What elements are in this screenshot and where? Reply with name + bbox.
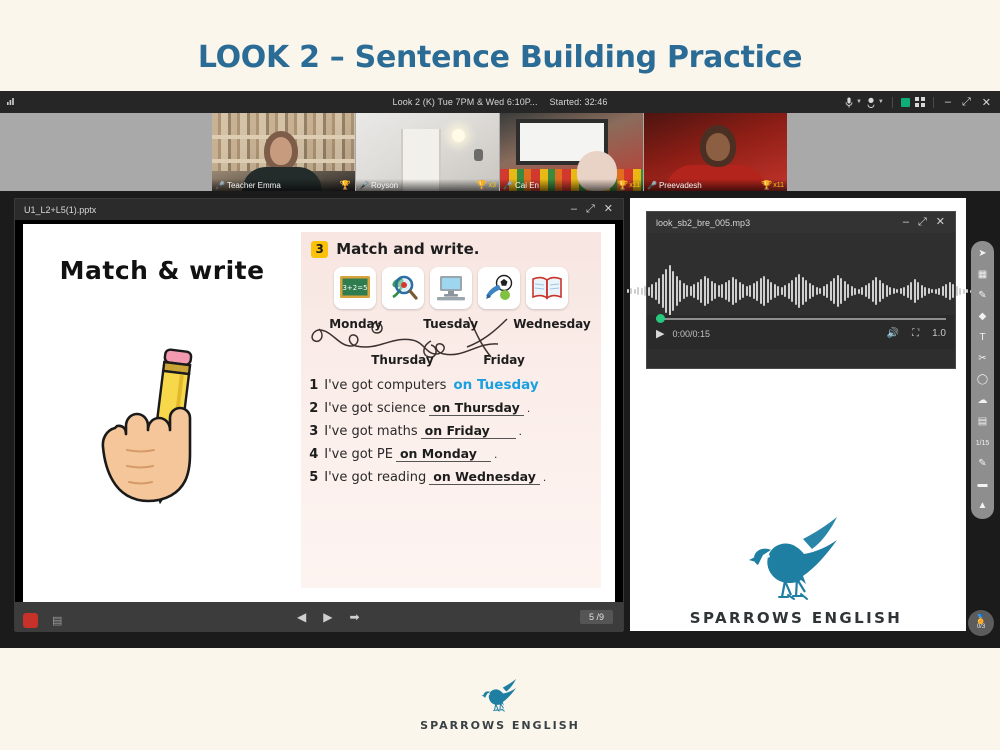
briefcase-icon[interactable]: ▤: [978, 416, 987, 428]
sentence-index: 5: [309, 470, 324, 485]
slide-nav-controls: ◀ ▶ ➡: [297, 611, 360, 623]
sentence-row-1[interactable]: 1 I've got computers on Tuesday: [309, 377, 601, 400]
sentence-answer: on Friday: [421, 423, 516, 439]
slide-canvas[interactable]: Match & write: [23, 224, 615, 602]
exercise-number-badge: 3: [311, 241, 328, 258]
arrow-right-icon[interactable]: ➡: [349, 611, 359, 623]
brand-name-slide: SPARROWS ENGLISH: [690, 609, 902, 627]
empty-tile: [788, 113, 1000, 191]
play-icon[interactable]: ▶: [656, 329, 664, 340]
text-tool-icon[interactable]: T: [979, 332, 985, 344]
participant-label: 🎤 Royson 🏆 x3: [356, 179, 499, 191]
audio-waveform: [627, 261, 976, 321]
close-button[interactable]: ✕: [979, 96, 994, 109]
worksheet-instruction: Match and write.: [336, 240, 479, 258]
powerpoint-file-name: U1_L2+L5(1).pptx: [24, 205, 571, 215]
sentence-row-4[interactable]: 4 I've got PE on Monday .: [309, 446, 601, 469]
sentence-answer: on Tuesday: [449, 377, 544, 393]
sentence-stem: I've got computers: [324, 378, 446, 393]
meeting-titlebar: Look 2 (K) Tue 7PM & Wed 6:10P...Started…: [0, 91, 1000, 113]
participant-reward: 🏆 x3: [476, 181, 496, 190]
reward-count: x11: [629, 182, 640, 189]
scissors-cut-icon[interactable]: ✂: [978, 353, 986, 365]
mic-on-icon: 🎤: [359, 181, 369, 190]
audio-right-controls: 🔊 ⛶ 1.0: [887, 329, 946, 339]
audio-waveform-stage[interactable]: ▶ 0:00/0:15 🔊 ⛶ 1.0: [647, 233, 955, 349]
toolbar-divider: [892, 97, 893, 108]
audio-controls-row: ▶ 0:00/0:15 🔊 ⛶ 1.0: [647, 321, 955, 347]
trophy-icon: 🏆: [617, 181, 628, 190]
minimize-button[interactable]: –: [571, 204, 577, 215]
close-button[interactable]: ✕: [936, 217, 945, 228]
ceiling-light: [452, 129, 465, 142]
day-label-wednesday: Wednesday: [513, 317, 591, 331]
footer-brand: SPARROWS ENGLISH: [0, 679, 1000, 732]
open-book-reading-icon[interactable]: [526, 267, 568, 309]
minimize-button[interactable]: –: [903, 217, 909, 228]
trophy-icon: 🏆: [761, 181, 772, 190]
audio-time-label: 0:00/0:15: [672, 329, 710, 339]
sentence-stem: I've got maths: [324, 424, 417, 439]
participant-label: 🎤 Cai En 🏆 x11: [500, 179, 643, 191]
sports-ball-pe-icon[interactable]: [478, 267, 520, 309]
sentence-period: .: [519, 424, 522, 438]
slide-navigation-bar: ▤ ◀ ▶ ➡ 5 /9: [15, 602, 623, 632]
thumbnail-view-icon[interactable]: ▤: [52, 614, 62, 627]
participant-name: Royson: [371, 181, 398, 190]
wall-fixture: [474, 149, 483, 161]
participant-name: Cai En: [515, 181, 539, 190]
day-labels-group: Monday Tuesday Wednesday Thursday Friday: [301, 315, 601, 375]
slide-heading: Match & write: [23, 256, 301, 285]
camera-icon[interactable]: [867, 97, 875, 108]
participant-tile-2[interactable]: 🎤 Royson 🏆 x3: [356, 113, 499, 191]
brand-logo-panel: SPARROWS ENGLISH: [646, 491, 946, 627]
slide-page-counter: 5 /9: [580, 610, 613, 624]
mic-muted-icon: 🎤: [647, 181, 657, 190]
play-icon[interactable]: ▶: [323, 611, 332, 623]
day-label-thursday: Thursday: [371, 353, 433, 367]
restore-button[interactable]: ⤢: [918, 217, 927, 228]
sentence-row-2[interactable]: 2 I've got science on Thursday .: [309, 400, 601, 423]
participant-label: 🎤 Preevadesh 🏆 x11: [644, 179, 787, 191]
eraser-icon[interactable]: ◆: [979, 311, 987, 323]
sentence-answer: on Monday: [396, 446, 491, 462]
reward-count: x3: [489, 182, 496, 189]
audio-seek-bar[interactable]: [656, 317, 946, 321]
audio-transport-bar: ▶ 0:00/0:15 🔊 ⛶ 1.0: [647, 315, 955, 349]
sentence-row-5[interactable]: 5 I've got reading on Wednesday .: [309, 469, 601, 492]
sparrow-bird-logo-footer: [478, 679, 522, 715]
screenshare-indicator[interactable]: [901, 98, 910, 107]
meeting-name: Look 2 (K) Tue 7PM & Wed 6:10P...: [393, 97, 538, 107]
powerpoint-window: U1_L2+L5(1).pptx – ⤢ ✕ Match & write: [14, 198, 624, 631]
picture-in-picture-icon[interactable]: ⛶: [912, 329, 919, 339]
seek-handle[interactable]: [656, 314, 665, 323]
sentence-period: .: [527, 401, 530, 415]
minimize-button[interactable]: –: [942, 96, 954, 108]
sentence-index: 4: [309, 447, 324, 462]
sentence-answer: on Wednesday: [429, 469, 540, 485]
participant-reward: 🏆 x11: [617, 181, 640, 190]
audio-window-controls: – ⤢ ✕: [903, 217, 950, 228]
video-conference-window: Look 2 (K) Tue 7PM & Wed 6:10P...Started…: [0, 91, 1000, 648]
reward-badge[interactable]: 🏅 0/3: [968, 610, 994, 636]
day-label-monday: Monday: [329, 317, 382, 331]
subject-icon-row: 3+2=5: [301, 267, 601, 309]
person-face: [270, 137, 292, 165]
volume-icon[interactable]: 🔊: [887, 329, 899, 339]
shape-circle-icon[interactable]: ◯: [977, 374, 988, 386]
sentence-row-3[interactable]: 3 I've got maths on Friday .: [309, 423, 601, 446]
participant-reward: 🏆: [340, 181, 352, 190]
day-label-friday: Friday: [483, 353, 525, 367]
sentence-stem: I've got reading: [324, 470, 426, 485]
audio-titlebar: look_sb2_bre_005.mp3 – ⤢ ✕: [647, 212, 955, 233]
sentence-period: .: [494, 447, 497, 461]
sentence-answer: on Thursday: [429, 400, 524, 416]
record-indicator-icon[interactable]: [23, 613, 38, 628]
sentence-index: 2: [309, 401, 324, 416]
trophy-icon: 🏆: [476, 181, 487, 190]
svg-text:3+2=5: 3+2=5: [343, 284, 368, 292]
apps-grid-icon[interactable]: ▦: [978, 269, 987, 281]
sentence-index: 3: [309, 424, 324, 439]
meeting-elapsed: Started: 32:46: [550, 97, 608, 107]
participant-video-strip: 🎤 Teacher Emma 🏆 🎤 Royson 🏆: [0, 113, 1000, 191]
slide-nav-left-tools: ▤: [23, 613, 62, 628]
restore-button[interactable]: ⤢: [959, 96, 974, 109]
sentence-index: 1: [309, 378, 324, 393]
screenshot-root: LOOK 2 – Sentence Building Practice Look…: [0, 0, 1000, 750]
sentence-stem: I've got PE: [324, 447, 393, 462]
magnifier-plant-science-icon[interactable]: [382, 267, 424, 309]
tools-rail: ➤ ▦ ✎ ◆ T ✂ ◯ ☁ ▤ 1/15 ✎ ▬ ▲: [971, 241, 994, 519]
cursor-pointer-icon[interactable]: ➤: [978, 248, 986, 260]
reward-counter: 0/3: [977, 624, 985, 632]
worksheet-header: 3 Match and write.: [301, 232, 601, 258]
mic-on-icon: 🎤: [503, 181, 513, 190]
close-button[interactable]: ✕: [604, 204, 613, 215]
page-counter-label: 1/15: [976, 437, 990, 449]
audio-player-window: look_sb2_bre_005.mp3 – ⤢ ✕: [646, 211, 956, 369]
sentence-stem: I've got science: [324, 401, 426, 416]
microphone-icon[interactable]: [845, 97, 853, 108]
computer-icon[interactable]: [430, 267, 472, 309]
slide-left-panel: Match & write: [23, 224, 301, 602]
day-label-tuesday: Tuesday: [423, 317, 478, 331]
chat-bubble-icon[interactable]: ▬: [978, 479, 988, 491]
participant-tile-4[interactable]: 🎤 Preevadesh 🏆 x11: [644, 113, 787, 191]
participant-name: Preevadesh: [659, 181, 702, 190]
worksheet-page[interactable]: 3 Match and write. 3+2=5: [301, 232, 601, 588]
participant-tile-1[interactable]: 🎤 Teacher Emma 🏆: [212, 113, 355, 191]
blackboard-maths-icon[interactable]: 3+2=5: [334, 267, 376, 309]
hand-holding-pencil-illustration: [97, 332, 227, 522]
mic-on-icon: 🎤: [215, 181, 225, 190]
person-face: [706, 133, 730, 161]
arrow-left-icon[interactable]: ◀: [297, 611, 306, 623]
brand-name-footer: SPARROWS ENGLISH: [420, 719, 580, 732]
microphone-dropdown-icon[interactable]: ▼: [856, 99, 862, 105]
powerpoint-titlebar: U1_L2+L5(1).pptx – ⤢ ✕: [15, 199, 623, 220]
camera-dropdown-icon[interactable]: ▼: [878, 99, 884, 105]
playback-speed-label[interactable]: 1.0: [932, 329, 946, 339]
signal-bars-icon: [7, 96, 16, 108]
shared-screen-workspace: U1_L2+L5(1).pptx – ⤢ ✕ Match & write: [0, 191, 1000, 648]
sentence-period: .: [543, 470, 546, 484]
sparrow-bird-logo: [741, 517, 851, 609]
reward-icon: 🏅: [975, 615, 986, 624]
note-edit-icon[interactable]: ✎: [978, 458, 986, 470]
audio-file-name: look_sb2_bre_005.mp3: [656, 218, 903, 228]
participant-name: Teacher Emma: [227, 181, 281, 190]
participant-tile-3[interactable]: 🎤 Cai En 🏆 x11: [500, 113, 643, 191]
participants-icon[interactable]: ▲: [978, 500, 988, 512]
grid-view-icon[interactable]: [915, 97, 925, 107]
reward-count: x11: [773, 182, 784, 189]
participant-label: 🎤 Teacher Emma 🏆: [212, 179, 355, 191]
meeting-title-controls: ▼ ▼ – ⤢ ✕: [845, 91, 994, 113]
pen-marker-icon[interactable]: ✎: [978, 290, 986, 302]
toolbar-divider-2: [933, 97, 934, 108]
powerpoint-window-controls: – ⤢ ✕: [571, 204, 619, 215]
participant-reward: 🏆 x11: [761, 181, 784, 190]
powerpoint-body: Match & write: [15, 220, 623, 632]
seek-track: [656, 318, 946, 320]
restore-button[interactable]: ⤢: [586, 204, 595, 215]
page-title: LOOK 2 – Sentence Building Practice: [0, 40, 1000, 75]
trophy-icon: 🏆: [340, 181, 351, 190]
sentence-list: 1 I've got computers on Tuesday 2 I've g…: [301, 375, 601, 492]
cloud-upload-icon[interactable]: ☁: [978, 395, 988, 407]
